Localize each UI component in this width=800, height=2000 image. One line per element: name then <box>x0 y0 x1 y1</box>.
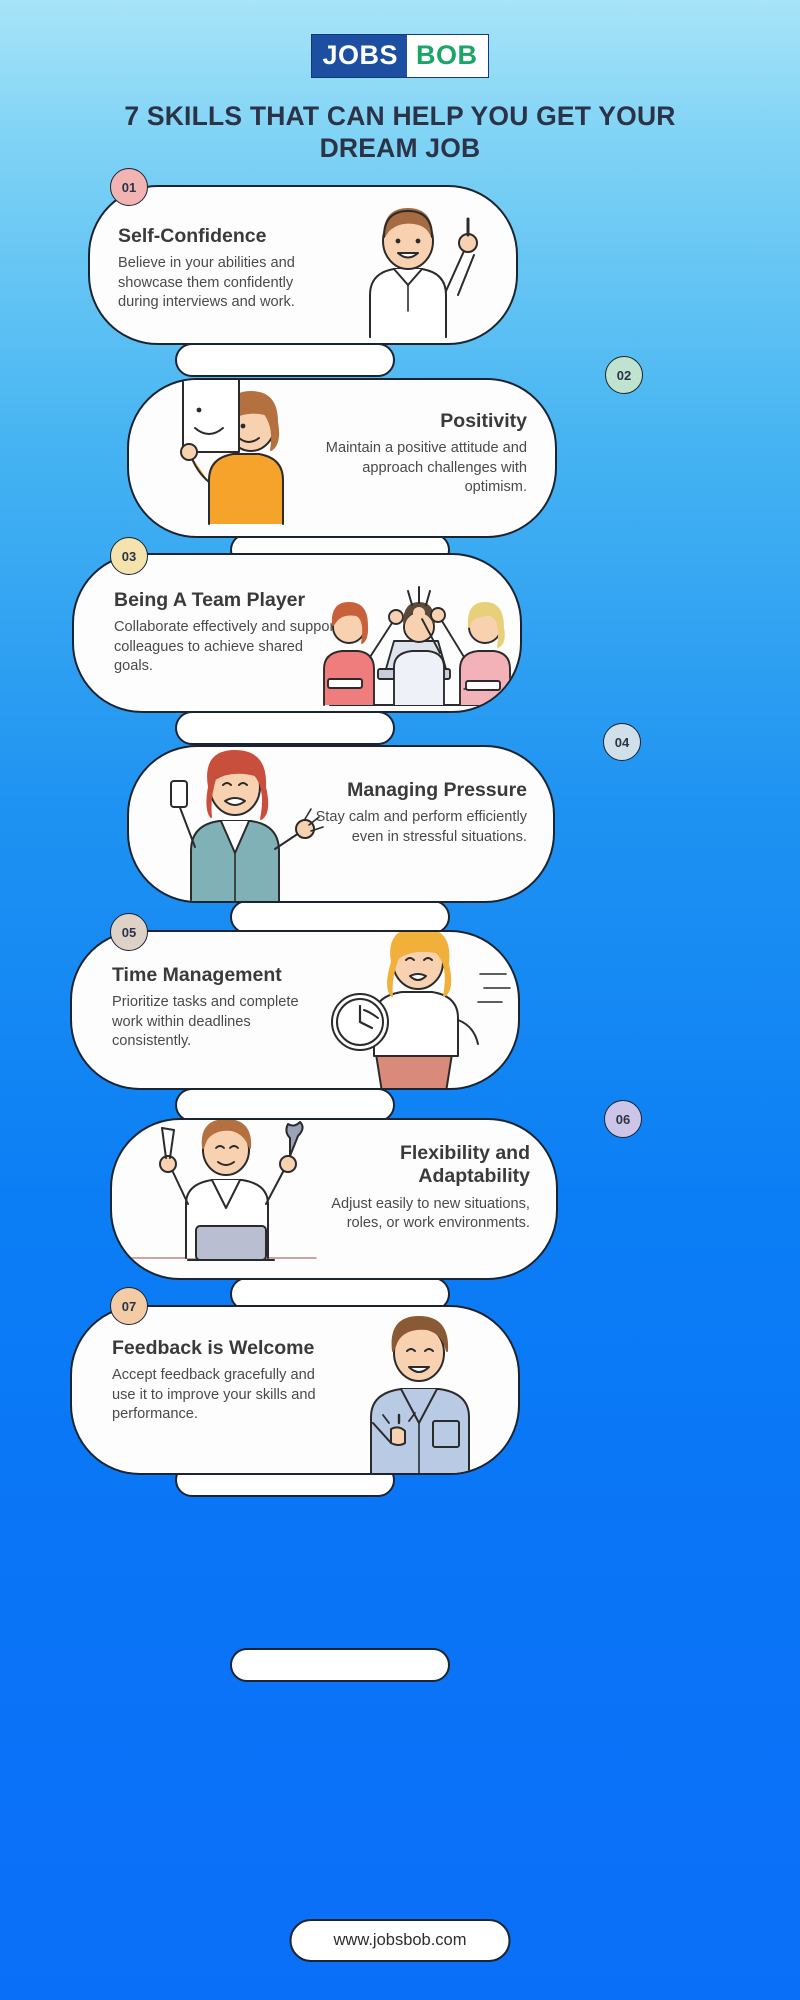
card-4-number: 04 <box>615 735 629 750</box>
skill-card-5[interactable]: Time Management Prioritize tasks and com… <box>70 930 520 1090</box>
connector-stub-4 <box>230 900 450 934</box>
brand-logo[interactable]: JOBS BOB <box>311 34 488 78</box>
connector-stub-3 <box>175 711 395 745</box>
skill-card-6[interactable]: Flexibility and Adaptability Adjust easi… <box>110 1118 558 1280</box>
card-6-number: 06 <box>616 1112 630 1127</box>
card-1-text: Self-Confidence Believe in your abilitie… <box>118 225 328 313</box>
card-2-badge: 02 <box>605 356 643 394</box>
connector-stub-5 <box>175 1088 395 1122</box>
card-1-number: 01 <box>122 180 136 195</box>
card-3-badge: 03 <box>110 537 148 575</box>
card-7-body: Accept feedback gracefully and use it to… <box>112 1366 327 1425</box>
card-4-body: Stay calm and perform efficiently even i… <box>305 808 527 847</box>
card-5-body: Prioritize tasks and complete work withi… <box>112 993 332 1052</box>
card-7-title: Feedback is Welcome <box>112 1337 327 1360</box>
card-6-body: Adjust easily to new situations, roles, … <box>300 1195 530 1234</box>
footer-url-pill[interactable]: www.jobsbob.com <box>290 1919 511 1962</box>
skill-card-2[interactable]: Positivity Maintain a positive attitude … <box>127 378 557 538</box>
card-6-text: Flexibility and Adaptability Adjust easi… <box>300 1142 530 1234</box>
logo-text-jobs: JOBS <box>312 35 407 77</box>
card-6-title: Flexibility and Adaptability <box>300 1142 530 1189</box>
footer-url-text: www.jobsbob.com <box>334 1931 467 1949</box>
card-7-illustration <box>329 1305 514 1475</box>
card-7-text: Feedback is Welcome Accept feedback grac… <box>112 1337 327 1425</box>
card-3-body: Collaborate effectively and support coll… <box>114 618 344 677</box>
skill-card-7[interactable]: Feedback is Welcome Accept feedback grac… <box>70 1305 520 1475</box>
card-5-badge: 05 <box>110 913 148 951</box>
card-5-title: Time Management <box>112 964 332 987</box>
card-6-badge: 06 <box>604 1100 642 1138</box>
card-7-badge: 07 <box>110 1287 148 1325</box>
card-5-text: Time Management Prioritize tasks and com… <box>112 964 332 1052</box>
page-title: 7 Skills That Can Help You Get Your Drea… <box>120 100 680 165</box>
card-1-body: Believe in your abilities and showcase t… <box>118 254 328 313</box>
header: JOBS BOB 7 Skills That Can Help You Get … <box>0 0 800 165</box>
skill-card-3[interactable]: Being A Team Player Collaborate effectiv… <box>72 553 522 713</box>
card-5-number: 05 <box>122 925 136 940</box>
logo-text-bob: BOB <box>407 35 488 77</box>
skill-card-1[interactable]: Self-Confidence Believe in your abilitie… <box>88 185 518 345</box>
card-3-text: Being A Team Player Collaborate effectiv… <box>114 589 344 677</box>
card-4-title: Managing Pressure <box>305 779 527 802</box>
skill-card-4[interactable]: Managing Pressure Stay calm and perform … <box>127 745 555 903</box>
card-4-badge: 04 <box>603 723 641 761</box>
card-4-illustration <box>143 745 333 903</box>
card-3-number: 03 <box>122 549 136 564</box>
connector-stub-8 <box>230 1648 450 1682</box>
card-2-title: Positivity <box>312 410 527 433</box>
card-1-badge: 01 <box>110 168 148 206</box>
card-2-illustration <box>147 378 327 532</box>
card-1-illustration <box>318 199 498 339</box>
card-4-text: Managing Pressure Stay calm and perform … <box>305 779 527 847</box>
card-5-illustration <box>312 930 512 1090</box>
connector-stub-1 <box>175 343 395 377</box>
card-2-number: 02 <box>617 368 631 383</box>
card-3-illustration <box>316 557 516 707</box>
card-2-body: Maintain a positive attitude and approac… <box>312 439 527 498</box>
card-7-number: 07 <box>122 1299 136 1314</box>
card-1-title: Self-Confidence <box>118 225 328 248</box>
card-2-text: Positivity Maintain a positive attitude … <box>312 410 527 498</box>
card-6-illustration <box>120 1118 320 1280</box>
card-3-title: Being A Team Player <box>114 589 344 612</box>
